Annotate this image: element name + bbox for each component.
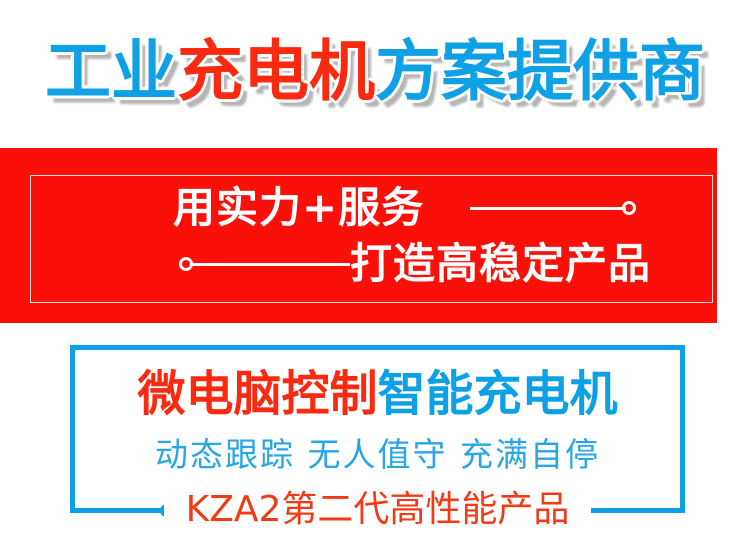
product-title-red: 微电脑控制 [137,366,377,422]
product-title-blue: 智能充电机 [378,366,618,422]
headline-segment-blue-2: 方案提供商 [375,33,705,110]
slogan-text-2: 打造高稳定产品 [350,238,651,290]
product-title: 微电脑控制智能充电机 [70,363,685,425]
slogan-row-1: 用实力+服务 [0,182,750,234]
page-title: 工业充电机方案提供商 [0,26,750,118]
connector-rule-right [470,207,626,210]
product-model-caption: KZA2第二代高性能产品 [164,487,592,533]
slogan-row-2: 打造高稳定产品 [0,238,750,290]
headline-segment-red: 充电机 [177,33,375,110]
headline-segment-blue-1: 工业 [45,33,177,110]
product-footer: KZA2第二代高性能产品 [70,487,685,533]
product-features: 动态跟踪 无人值守 充满自停 [70,432,685,478]
connector-ring-right-icon [622,201,636,215]
red-slogan-band [0,148,717,323]
connector-rule-left [190,263,350,266]
promo-banner: 工业充电机方案提供商 用实力+服务 打造高稳定产品 微电脑控制智能充电机 动态跟… [0,0,750,548]
slogan-text-1: 用实力+服务 [173,182,424,234]
